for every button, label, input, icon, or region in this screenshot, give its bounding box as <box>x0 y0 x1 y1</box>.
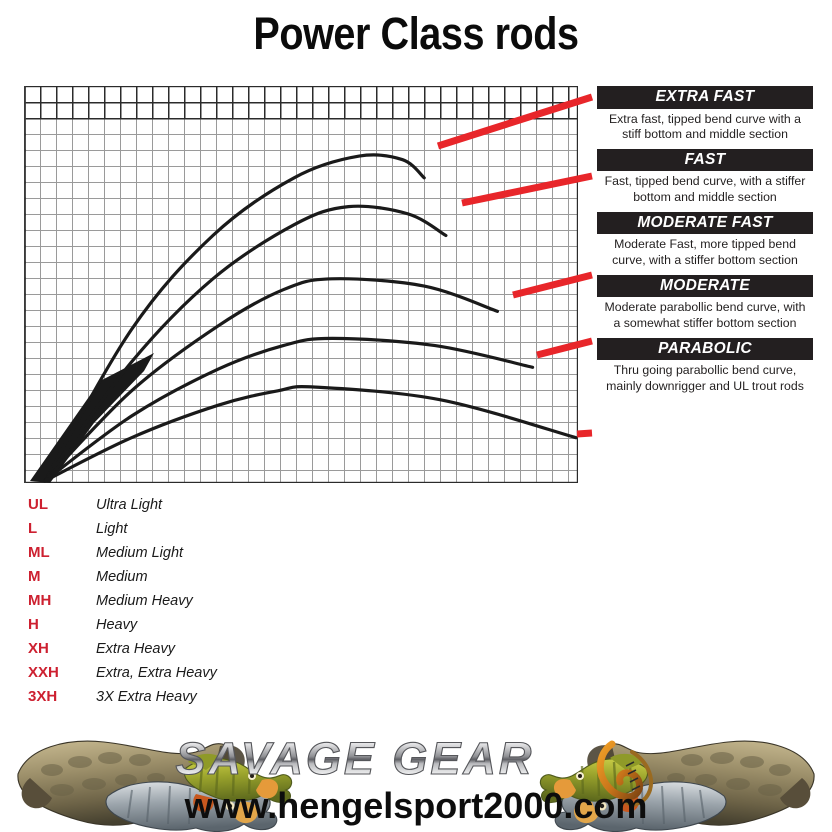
abbrev-code: H <box>28 616 96 633</box>
abbrev-code: MH <box>28 592 96 609</box>
bend-curve-chart <box>24 86 578 483</box>
abbrev-row-xh: XH Extra Heavy <box>28 640 358 664</box>
legend-entry-moderate-fast: MODERATE FAST Moderate Fast, more tipped… <box>597 212 813 269</box>
bend-curve-parabolic <box>45 387 576 481</box>
abbrev-name: 3X Extra Heavy <box>96 689 197 705</box>
power-class-abbreviation-table: UL Ultra Light L Light ML Medium Light M… <box>28 496 358 712</box>
abbrev-code: XXH <box>28 664 96 681</box>
grid-lines-dark <box>24 86 578 119</box>
rod-butt-convergence <box>30 353 154 483</box>
abbrev-name: Medium <box>96 569 148 585</box>
bend-curve-extra-fast <box>45 155 424 481</box>
abbrev-code: UL <box>28 496 96 513</box>
abbrev-row-ml: ML Medium Light <box>28 544 358 568</box>
legend-entry-moderate: MODERATE Moderate parabollic bend curve,… <box>597 275 813 332</box>
bend-curve-moderate <box>45 338 533 481</box>
abbrev-code: ML <box>28 544 96 561</box>
footer-svg: SAVAGE GEAR www.hengelsport2000.com <box>0 722 832 832</box>
abbrev-name: Medium Heavy <box>96 593 193 609</box>
legend-entry-parabolic: PARABOLIC Thru going parabollic bend cur… <box>597 338 813 395</box>
abbrev-code: XH <box>28 640 96 657</box>
website-url: www.hengelsport2000.com <box>184 785 648 826</box>
abbrev-row-3xh: 3XH 3X Extra Heavy <box>28 688 358 712</box>
abbrev-name: Light <box>96 521 127 537</box>
legend-label-fast: FAST <box>597 149 813 172</box>
legend-entry-extra-fast: EXTRA FAST Extra fast, tipped bend curve… <box>597 86 813 143</box>
abbrev-name: Medium Light <box>96 545 183 561</box>
abbrev-row-l: L Light <box>28 520 358 544</box>
legend-label-moderate: MODERATE <box>597 275 813 298</box>
abbrev-row-ul: UL Ultra Light <box>28 496 358 520</box>
pointer-line-parabolic <box>577 433 592 434</box>
poster-root: Power Class rods <box>0 0 832 832</box>
legend-label-parabolic: PARABOLIC <box>597 338 813 361</box>
bend-curve-fast <box>45 206 446 481</box>
abbrev-row-m: M Medium <box>28 568 358 592</box>
abbrev-name: Ultra Light <box>96 497 162 513</box>
savage-gear-wordmark: SAVAGE GEAR <box>176 733 535 784</box>
legend-desc-moderate: Moderate parabollic bend curve, with a s… <box>597 297 813 331</box>
legend-label-moderate-fast: MODERATE FAST <box>597 212 813 235</box>
chart-svg <box>24 86 578 483</box>
abbrev-code: M <box>28 568 96 585</box>
legend-panel: EXTRA FAST Extra fast, tipped bend curve… <box>597 86 813 401</box>
legend-desc-parabolic: Thru going parabollic bend curve, mainly… <box>597 360 813 394</box>
legend-desc-fast: Fast, tipped bend curve, with a stiffer … <box>597 171 813 205</box>
perch-pupil-icon <box>578 774 582 778</box>
page-title: Power Class rods <box>50 8 782 60</box>
abbrev-name: Extra Heavy <box>96 641 175 657</box>
abbrev-name: Heavy <box>96 617 137 633</box>
footer-banner: SAVAGE GEAR www.hengelsport2000.com <box>0 722 832 832</box>
legend-desc-extra-fast: Extra fast, tipped bend curve with a sti… <box>597 109 813 143</box>
legend-label-extra-fast: EXTRA FAST <box>597 86 813 109</box>
abbrev-name: Extra, Extra Heavy <box>96 665 217 681</box>
abbrev-row-xxh: XXH Extra, Extra Heavy <box>28 664 358 688</box>
legend-entry-fast: FAST Fast, tipped bend curve, with a sti… <box>597 149 813 206</box>
abbrev-code: L <box>28 520 96 537</box>
abbrev-row-h: H Heavy <box>28 616 358 640</box>
abbrev-row-mh: MH Medium Heavy <box>28 592 358 616</box>
abbrev-code: 3XH <box>28 688 96 705</box>
rod-bend-curves <box>30 155 576 483</box>
legend-desc-moderate-fast: Moderate Fast, more tipped bend curve, w… <box>597 234 813 268</box>
